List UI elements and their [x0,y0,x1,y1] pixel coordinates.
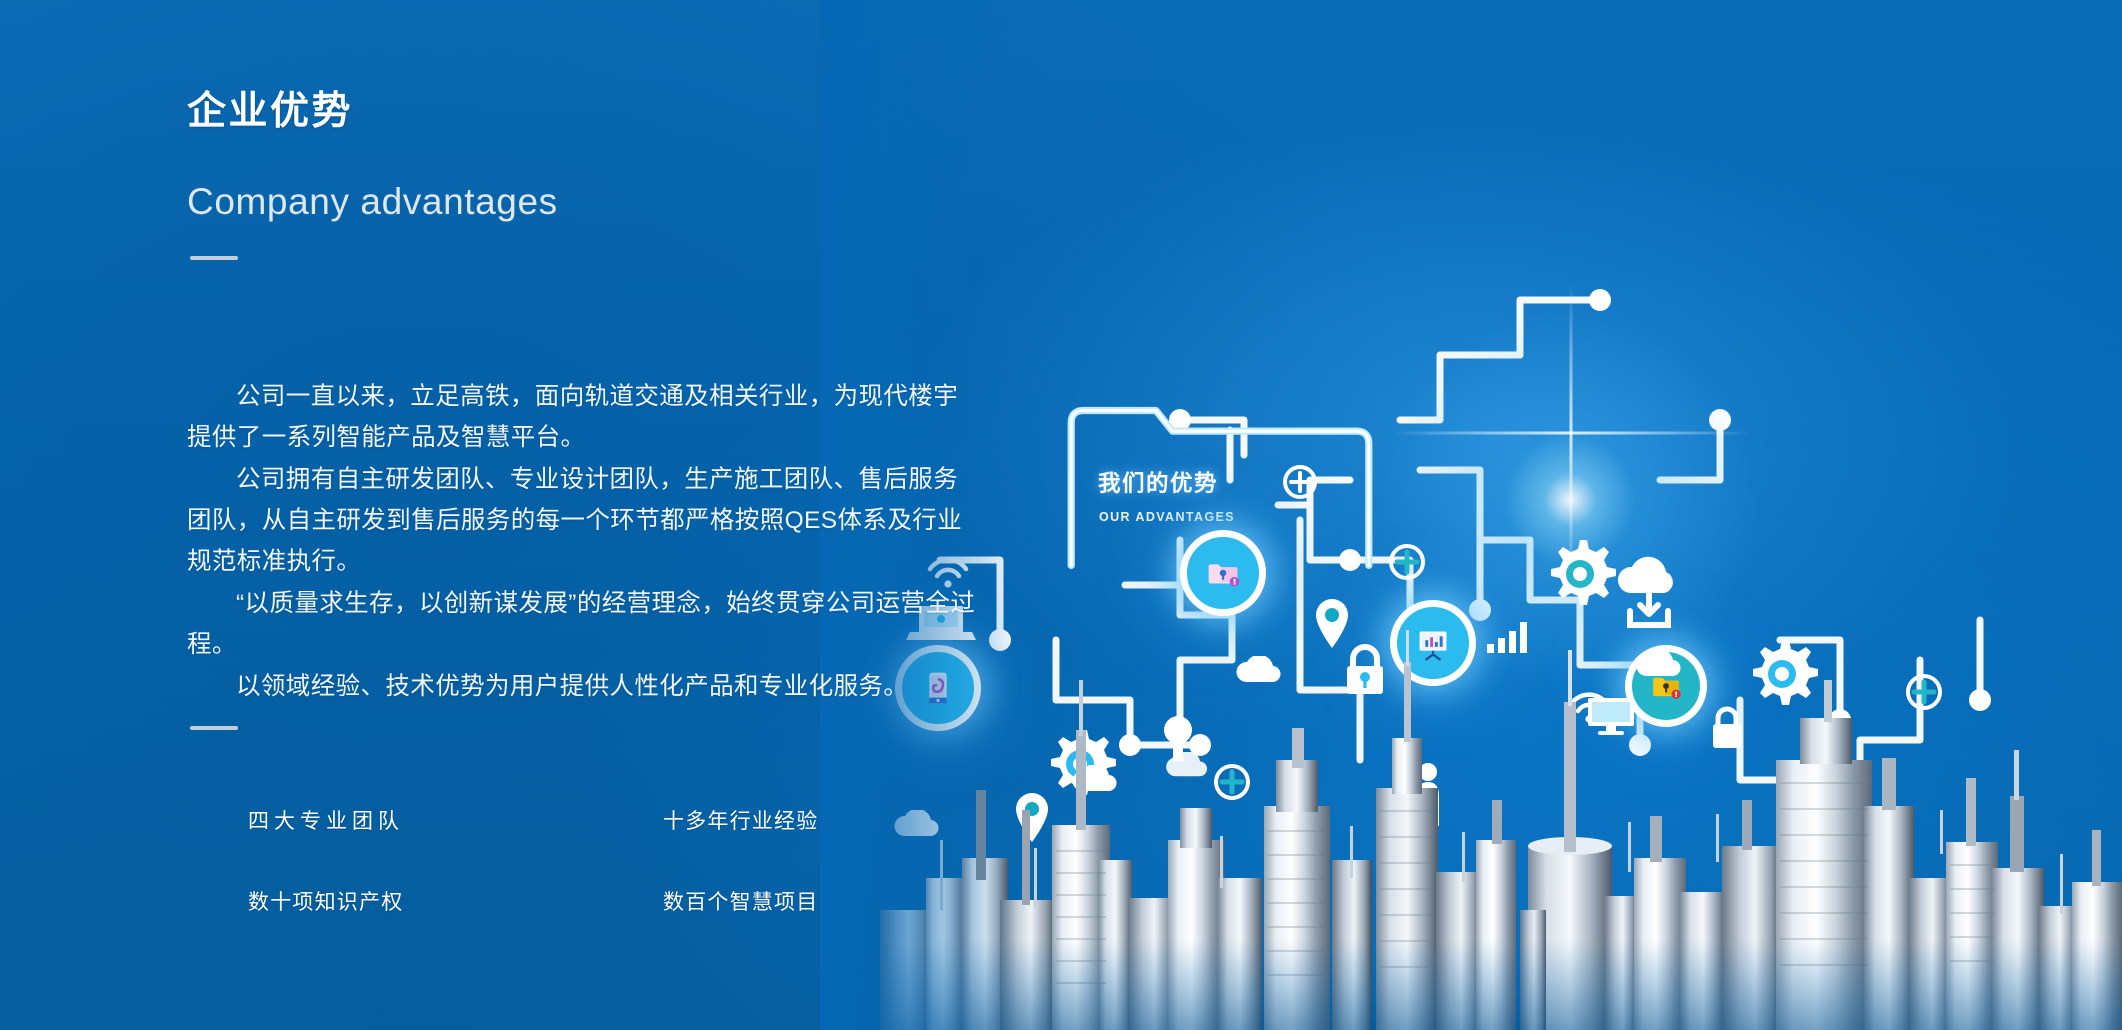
plus-node-icon [1385,540,1429,584]
title-divider [190,256,238,260]
body-paragraph: “以质量求生存，以创新谋发展”的经营理念，始终贯穿公司运营全过程。 [187,583,977,665]
body-paragraph: 公司一直以来，立足高铁，面向轨道交通及相关行业，为现代楼宇提供了一系列智能产品及… [187,376,977,458]
city-skyline [880,610,2122,1030]
plus-node-icon [1280,462,1320,502]
content-column: 企业优势 Company advantages 公司一直以来，立足高铁，面向轨道… [0,0,1010,1030]
secure-folder-pink-icon [1180,530,1266,616]
page-title-cn: 企业优势 [187,80,353,136]
body-divider [190,726,238,730]
body-paragraph: 以领域经验、技术优势为用户提供人性化产品和专业化服务。 [187,666,977,707]
body-copy: 公司一直以来，立足高铁，面向轨道交通及相关行业，为现代楼宇提供了一系列智能产品及… [187,376,977,708]
card-title-cn: 我们的优势 [1098,466,1218,498]
light-burst-rays [1570,432,1572,434]
company-advantages-illustration: 我们的优势 OUR ADVANTAGES [880,0,2122,1030]
body-paragraph: 公司拥有自主研发团队、专业设计团队，生产施工团队、售后服务团队，从自主研发到售后… [187,459,977,582]
page-title-en: Company advantages [187,181,558,223]
stat-item-teams: 四大专业团队 [248,805,663,886]
card-title-en: OUR ADVANTAGES [1099,510,1235,524]
stat-item-projects: 数百个智慧项目 [663,886,948,967]
stat-item-patents: 数十项知识产权 [248,886,663,967]
stat-item-experience: 十多年行业经验 [663,805,948,886]
stats-grid: 四大专业团队 十多年行业经验 数十项知识产权 数百个智慧项目 [248,805,948,967]
